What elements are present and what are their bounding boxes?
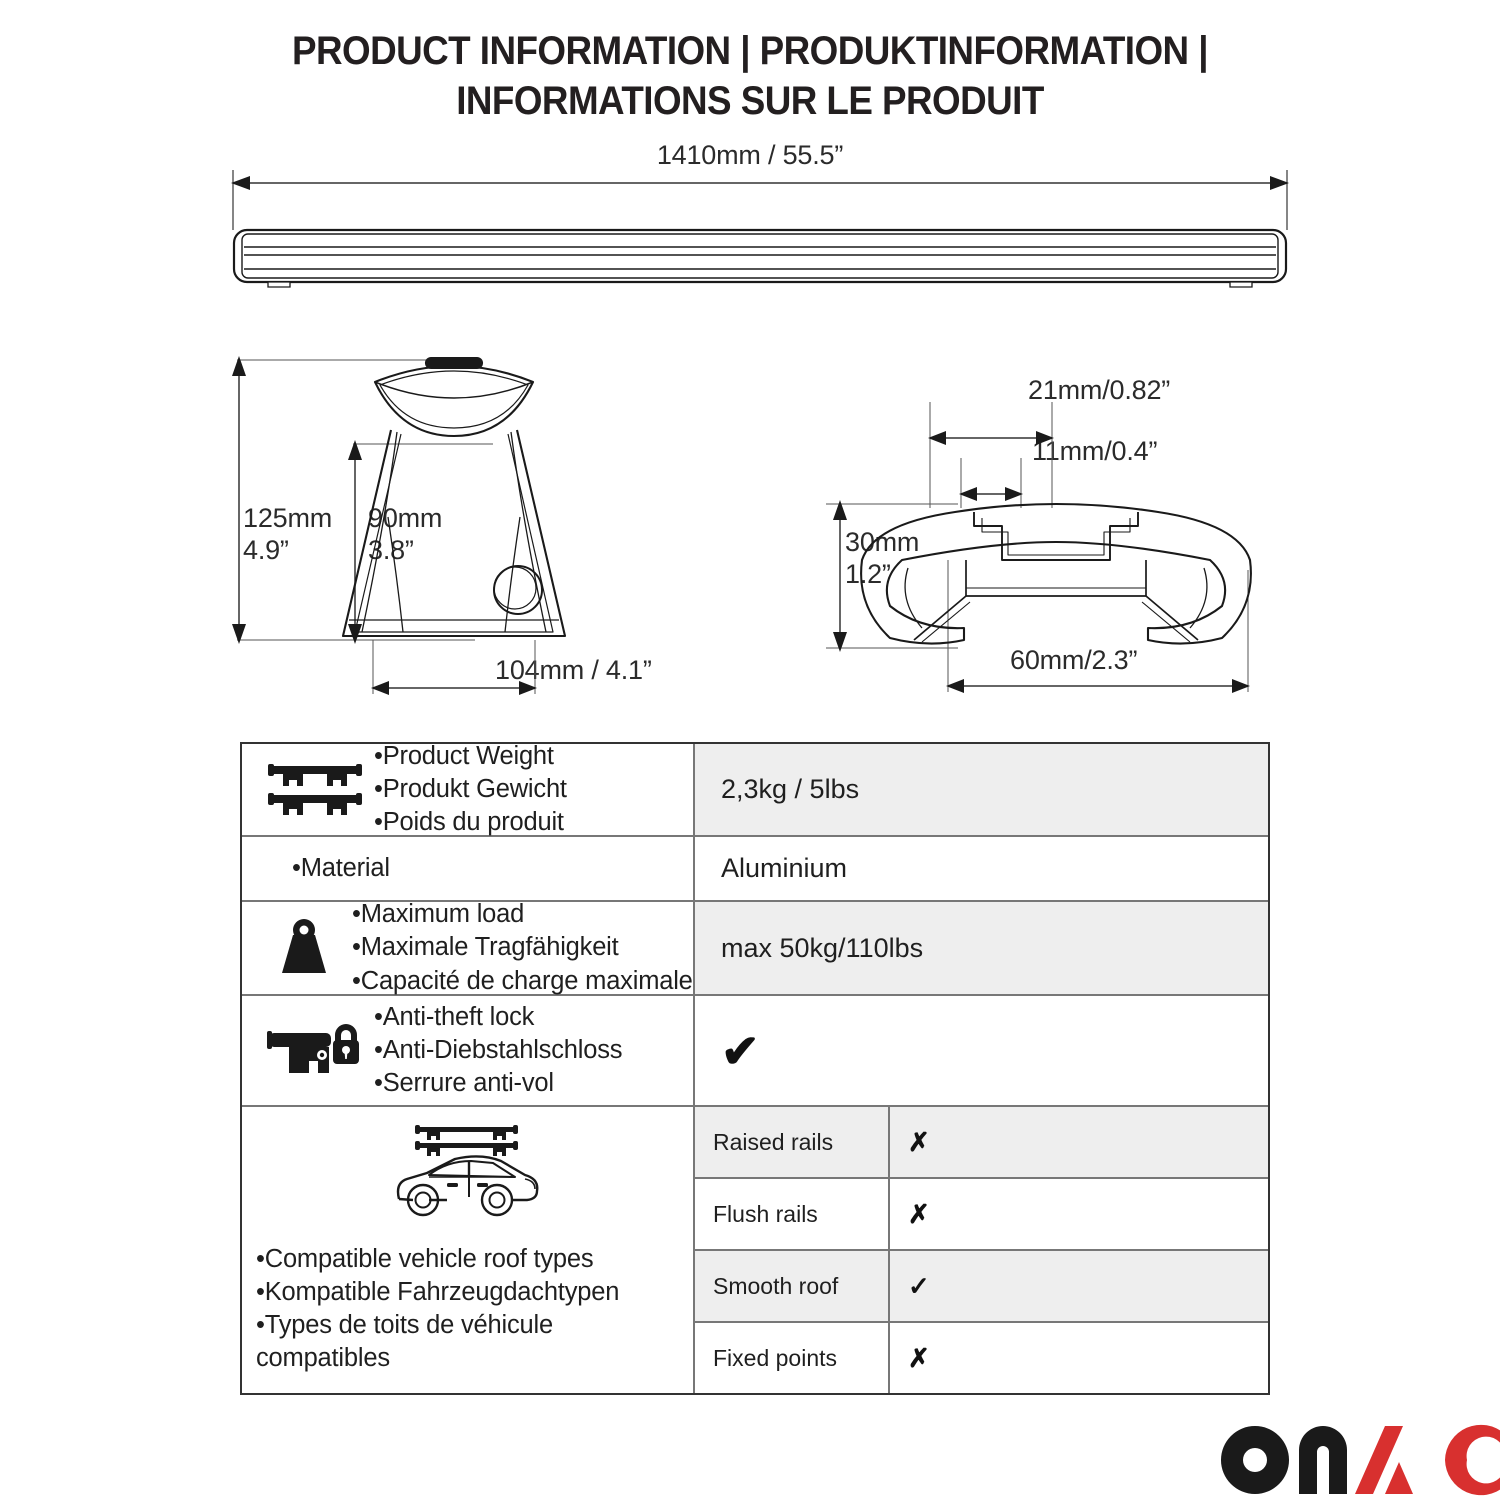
bullet-line: •Maximum load — [352, 898, 693, 931]
spec-value-cell: 2,3kg / 5lbs — [695, 744, 1268, 835]
table-row: •Material Aluminium — [242, 837, 1268, 902]
roof-types-label-cell: •Compatible vehicle roof types •Kompatib… — [242, 1107, 695, 1393]
roof-rack-foot-front-view-icon — [225, 352, 705, 702]
omac-logo — [1215, 1420, 1500, 1500]
page-title: PRODUCT INFORMATION | PRODUKTINFORMATION… — [60, 26, 1440, 126]
spec-bullets: •Maximum load •Maximale Tragfähigkeit •C… — [352, 898, 693, 997]
roof-types-bullets: •Compatible vehicle roof types •Kompatib… — [242, 1243, 619, 1376]
crossbar-top-view-icon — [228, 168, 1292, 308]
roof-type-row: Flush rails ✗ — [695, 1179, 1268, 1251]
spec-label-cell: •Material — [242, 837, 695, 900]
bullet-line: •Anti-Diebstahlschloss — [374, 1034, 622, 1067]
spec-bullets: •Material — [256, 852, 390, 885]
spec-bullets: •Anti-theft lock •Anti-Diebstahlschloss … — [374, 1001, 622, 1100]
omac-logo-red — [1355, 1425, 1500, 1495]
roof-type-name: Flush rails — [695, 1179, 890, 1249]
bullet-line: •Produkt Gewicht — [374, 773, 567, 806]
roof-type-name: Smooth roof — [695, 1251, 890, 1321]
table-row: •Anti-theft lock •Anti-Diebstahlschloss … — [242, 996, 1268, 1107]
page-title-line-2: INFORMATIONS SUR LE PRODUIT — [60, 76, 1440, 126]
bullet-line: •Kompatible Fahrzeugdachtypen — [256, 1276, 619, 1309]
bullet-line: •Material — [292, 852, 390, 885]
product-spec-table: •Product Weight •Produkt Gewicht •Poids … — [240, 742, 1270, 1395]
roof-type-name: Raised rails — [695, 1107, 890, 1177]
bullet-line: •Anti-theft lock — [374, 1001, 622, 1034]
product-information-sheet: PRODUCT INFORMATION | PRODUKTINFORMATION… — [0, 0, 1500, 1500]
bullet-line: •Product Weight — [374, 740, 567, 773]
table-row: •Maximum load •Maximale Tragfähigkeit •C… — [242, 902, 1268, 996]
table-row: •Product Weight •Produkt Gewicht •Poids … — [242, 744, 1268, 837]
roof-type-value: ✗ — [890, 1179, 1268, 1249]
bullet-line: •Serrure anti-vol — [374, 1067, 622, 1100]
roof-type-row: Fixed points ✗ — [695, 1323, 1268, 1393]
roof-type-row: Smooth roof ✓ — [695, 1251, 1268, 1323]
spec-value-cell: max 50kg/110lbs — [695, 902, 1268, 994]
crossbars-icon — [256, 761, 374, 819]
omac-logo-dark — [1221, 1426, 1347, 1494]
crossbar-cross-section-icon — [818, 400, 1288, 700]
spec-value-cell: Aluminium — [695, 837, 1268, 900]
bullet-line: •Types de toits de véhicule compatibles — [256, 1309, 616, 1375]
roof-type-value: ✓ — [890, 1251, 1268, 1321]
spec-label-cell: •Maximum load •Maximale Tragfähigkeit •C… — [242, 902, 695, 994]
spec-bullets: •Product Weight •Produkt Gewicht •Poids … — [374, 740, 567, 839]
spec-label-cell: •Anti-theft lock •Anti-Diebstahlschloss … — [242, 996, 695, 1105]
table-row-roof-types: •Compatible vehicle roof types •Kompatib… — [242, 1107, 1268, 1393]
car-with-roof-rack-icon — [385, 1121, 550, 1229]
page-title-line-1: PRODUCT INFORMATION | PRODUKTINFORMATION… — [292, 29, 1208, 73]
lock-icon — [256, 1017, 374, 1085]
roof-type-name: Fixed points — [695, 1323, 890, 1393]
weight-icon — [256, 917, 352, 979]
roof-type-value: ✗ — [890, 1107, 1268, 1177]
checkmark-icon: ✔ — [721, 1028, 760, 1074]
roof-type-value: ✗ — [890, 1323, 1268, 1393]
spec-value-cell: ✔ — [695, 996, 1268, 1105]
spec-label-cell: •Product Weight •Produkt Gewicht •Poids … — [242, 744, 695, 835]
bullet-line: •Capacité de charge maximale — [352, 965, 693, 998]
bullet-line: •Compatible vehicle roof types — [256, 1243, 619, 1276]
bullet-line: •Poids du produit — [374, 806, 567, 839]
roof-type-row: Raised rails ✗ — [695, 1107, 1268, 1179]
bullet-line: •Maximale Tragfähigkeit — [352, 931, 693, 964]
roof-types-matrix: Raised rails ✗ Flush rails ✗ Smooth roof… — [695, 1107, 1268, 1393]
